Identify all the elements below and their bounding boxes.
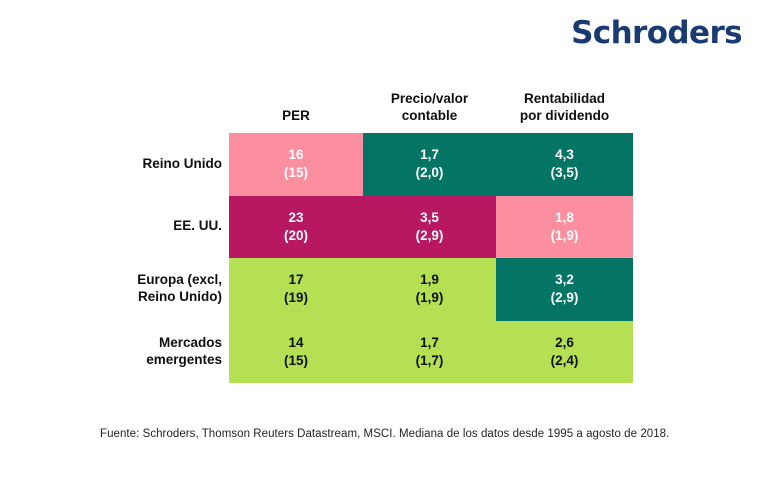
cell-ee-uu-rentabilidad: 1,8 (1,9) <box>496 196 633 259</box>
cell-value: 1,8 <box>555 209 574 227</box>
cell-median: (19) <box>284 289 308 307</box>
valuation-matrix-table: PER Precio/valor contable Rentabilidad p… <box>0 80 770 383</box>
cell-median: (20) <box>284 227 308 245</box>
column-header-rentabilidad-por-dividendo: Rentabilidad por dividendo <box>496 80 633 133</box>
cell-value: 1,7 <box>420 334 439 352</box>
row-label-mercados-emergentes: Mercados emergentes <box>0 321 229 384</box>
cell-value: 16 <box>288 146 303 164</box>
cell-mercados-emergentes-rentabilidad: 2,6 (2,4) <box>496 321 633 384</box>
cell-median: (1,9) <box>551 227 579 245</box>
source-note: Fuente: Schroders, Thomson Reuters Datas… <box>100 428 669 440</box>
cell-value: 1,9 <box>420 271 439 289</box>
cell-value: 17 <box>288 271 303 289</box>
row-label-europa-excl-reino-unido: Europa (excl, Reino Unido) <box>0 258 229 321</box>
cell-value: 23 <box>288 209 303 227</box>
cell-europa-precio-valor: 1,9 (1,9) <box>363 258 496 321</box>
cell-value: 3,2 <box>555 271 574 289</box>
matrix-grid: PER Precio/valor contable Rentabilidad p… <box>0 80 633 383</box>
cell-value: 1,7 <box>420 146 439 164</box>
cell-europa-rentabilidad: 3,2 (2,9) <box>496 258 633 321</box>
cell-median: (15) <box>284 352 308 370</box>
cell-median: (2,9) <box>416 227 444 245</box>
row-label-reino-unido: Reino Unido <box>0 133 229 196</box>
cell-median: (2,4) <box>551 352 579 370</box>
cell-median: (1,7) <box>416 352 444 370</box>
cell-median: (2,0) <box>416 164 444 182</box>
cell-median: (2,9) <box>551 289 579 307</box>
cell-median: (3,5) <box>551 164 579 182</box>
schroders-logo: Schroders <box>571 18 742 49</box>
cell-ee-uu-precio-valor: 3,5 (2,9) <box>363 196 496 259</box>
cell-value: 2,6 <box>555 334 574 352</box>
cell-value: 14 <box>288 334 303 352</box>
cell-mercados-emergentes-precio-valor: 1,7 (1,7) <box>363 321 496 384</box>
cell-median: (15) <box>284 164 308 182</box>
cell-europa-per: 17 (19) <box>229 258 363 321</box>
cell-reino-unido-precio-valor: 1,7 (2,0) <box>363 133 496 196</box>
cell-mercados-emergentes-per: 14 (15) <box>229 321 363 384</box>
column-header-precio-valor-contable: Precio/valor contable <box>363 80 496 133</box>
cell-reino-unido-rentabilidad: 4,3 (3,5) <box>496 133 633 196</box>
cell-median: (1,9) <box>416 289 444 307</box>
table-corner-spacer <box>0 80 229 133</box>
cell-reino-unido-per: 16 (15) <box>229 133 363 196</box>
cell-value: 3,5 <box>420 209 439 227</box>
row-label-ee-uu: EE. UU. <box>0 196 229 259</box>
column-header-per: PER <box>229 80 363 133</box>
cell-ee-uu-per: 23 (20) <box>229 196 363 259</box>
cell-value: 4,3 <box>555 146 574 164</box>
